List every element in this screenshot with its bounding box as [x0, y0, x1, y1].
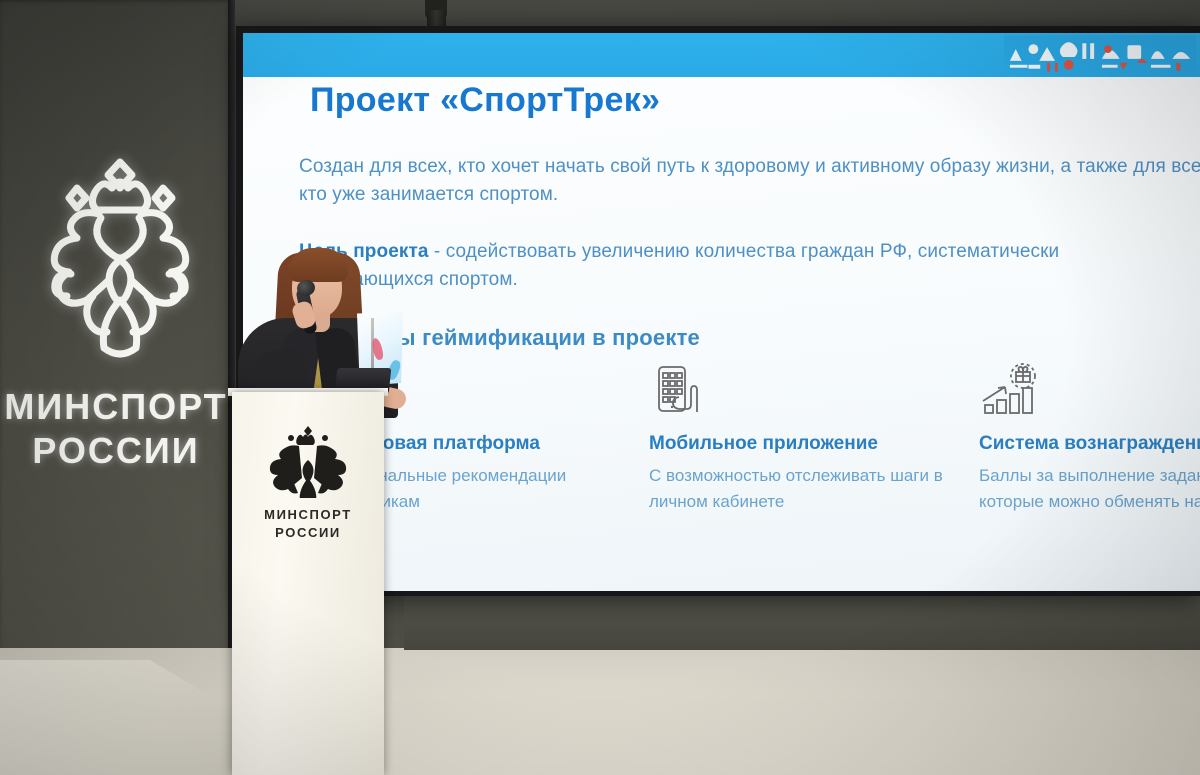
podium-emblem-text: МИНСПОРТ РОССИИ — [264, 506, 352, 541]
podium-emblem-line1: МИНСПОРТ — [264, 506, 352, 524]
speaking-podium: МИНСПОРТ РОССИИ — [232, 392, 384, 775]
column-mobile-app: Мобильное приложение С возможностью отсл… — [649, 363, 949, 514]
column-rewards: Система вознаграждений Баллы за выполнен… — [979, 363, 1200, 514]
podium-emblem-block: МИНСПОРТ РОССИИ — [232, 424, 384, 541]
gift-growth-chart-icon — [979, 363, 1200, 425]
wall-emblem-text: МИНСПОРТ РОССИИ — [0, 385, 232, 473]
double-headed-eagle-emblem — [269, 424, 347, 498]
sports-culture-pattern-strip — [1000, 33, 1200, 77]
mobile-app-hand-icon — [649, 363, 949, 425]
screen-baseboard — [404, 592, 1200, 650]
presenter-hair-top — [288, 248, 348, 282]
double-headed-eagle-emblem — [10, 140, 230, 380]
slide-intro-text: Создан для всех, кто хочет начать свой п… — [299, 153, 1200, 208]
wall-emblem-line1: МИНСПОРТ — [0, 385, 232, 429]
column-desc: Баллы за выполнение заданий, которые мож… — [979, 463, 1200, 514]
conference-hall-scene: МИНСПОРТ РОССИИ — [0, 0, 1200, 775]
slide-title: Проект «СпортТрек» — [310, 81, 660, 120]
column-title: Система вознаграждений — [979, 433, 1200, 455]
wall-emblem-line2: РОССИИ — [0, 429, 232, 473]
column-title: Мобильное приложение — [649, 433, 949, 455]
slide-topbar — [243, 33, 1200, 77]
slide-goal-text: Цель проекта - содействовать увеличению … — [299, 238, 1199, 293]
column-desc: С возможностью отслеживать шаги в личном… — [649, 463, 949, 514]
podium-emblem-line2: РОССИИ — [264, 524, 352, 542]
gamification-columns: Цифровая платформа Персональные рекоменд… — [299, 363, 1199, 563]
